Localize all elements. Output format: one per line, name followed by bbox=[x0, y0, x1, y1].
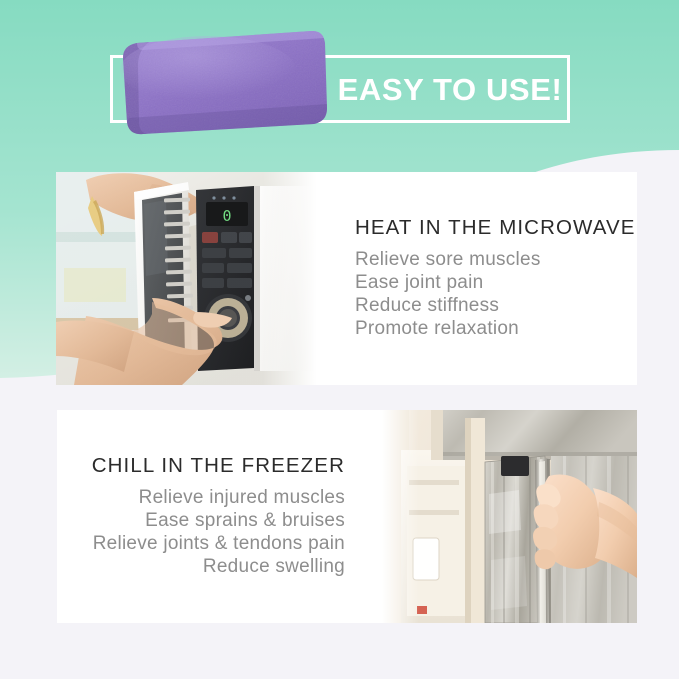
list-item: Reduce stiffness bbox=[355, 295, 541, 318]
heat-text-panel: HEAT IN THE MICROWAVE Relieve sore muscl… bbox=[321, 172, 637, 385]
hero-title: EASY TO USE! bbox=[336, 62, 564, 117]
chill-benefit-list: Relieve injured muscles Ease sprains & b… bbox=[93, 487, 345, 579]
heat-benefit-list: Relieve sore muscles Ease joint pain Red… bbox=[355, 249, 541, 341]
infographic-stage: EASY TO USE! bbox=[0, 0, 679, 679]
list-item: Ease joint pain bbox=[355, 272, 541, 295]
card-heading-chill: CHILL IN THE FREEZER bbox=[92, 454, 345, 478]
list-item: Promote relaxation bbox=[355, 318, 541, 341]
list-item: Relieve injured muscles bbox=[93, 487, 345, 510]
microwave-photo: 0 bbox=[56, 172, 321, 385]
card-heading-heat: HEAT IN THE MICROWAVE bbox=[355, 216, 636, 240]
list-item: Ease sprains & bruises bbox=[93, 510, 345, 533]
card-chill-in-the-freezer: CHILL IN THE FREEZER Relieve injured mus… bbox=[57, 410, 637, 623]
list-item: Relieve sore muscles bbox=[355, 249, 541, 272]
freezer-photo bbox=[379, 410, 637, 623]
card-heat-in-the-microwave: 0 bbox=[56, 172, 637, 385]
product-pillow-image bbox=[113, 30, 328, 135]
chill-text-panel: CHILL IN THE FREEZER Relieve injured mus… bbox=[57, 410, 379, 623]
list-item: Reduce swelling bbox=[93, 556, 345, 579]
list-item: Relieve joints & tendons pain bbox=[93, 533, 345, 556]
